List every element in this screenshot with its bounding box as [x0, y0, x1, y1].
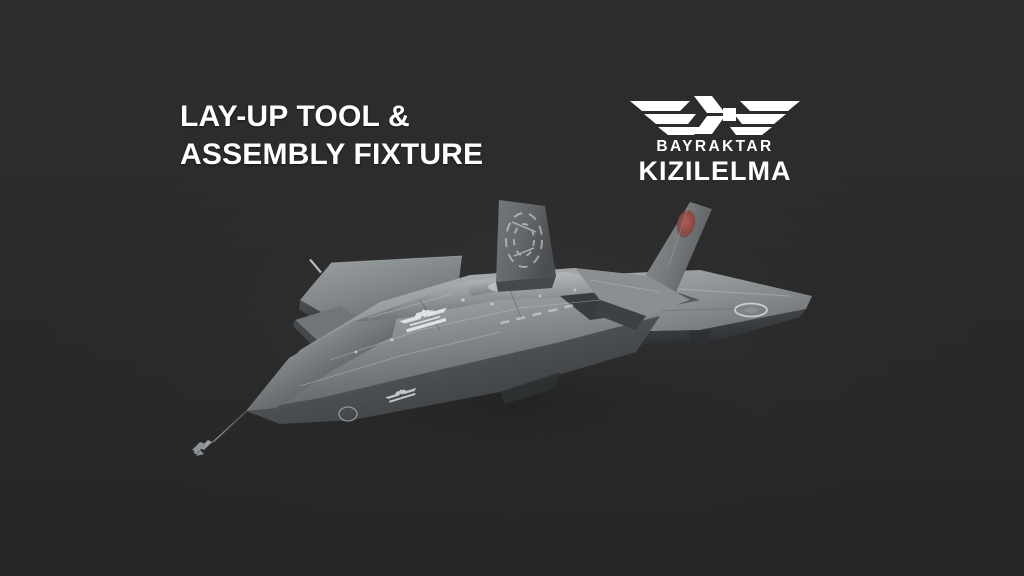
title-line-2: ASSEMBLY FIXTURE [180, 136, 610, 174]
title-line-1: LAY-UP TOOL & [180, 98, 610, 136]
page-title: LAY-UP TOOL & ASSEMBLY FIXTURE [180, 98, 610, 175]
logo-brand-text: BAYRAKTAR [620, 139, 810, 155]
slide-backdrop [0, 0, 1024, 576]
logo-model-text: KIZILELMA [620, 157, 810, 185]
brand-logo: BAYRAKTAR KIZILELMA [620, 92, 810, 185]
slide-canvas: LAY-UP TOOL & ASSEMBLY FIXTURE BAYRAKTAR… [0, 0, 1024, 576]
bayraktar-winged-emblem [628, 92, 802, 138]
